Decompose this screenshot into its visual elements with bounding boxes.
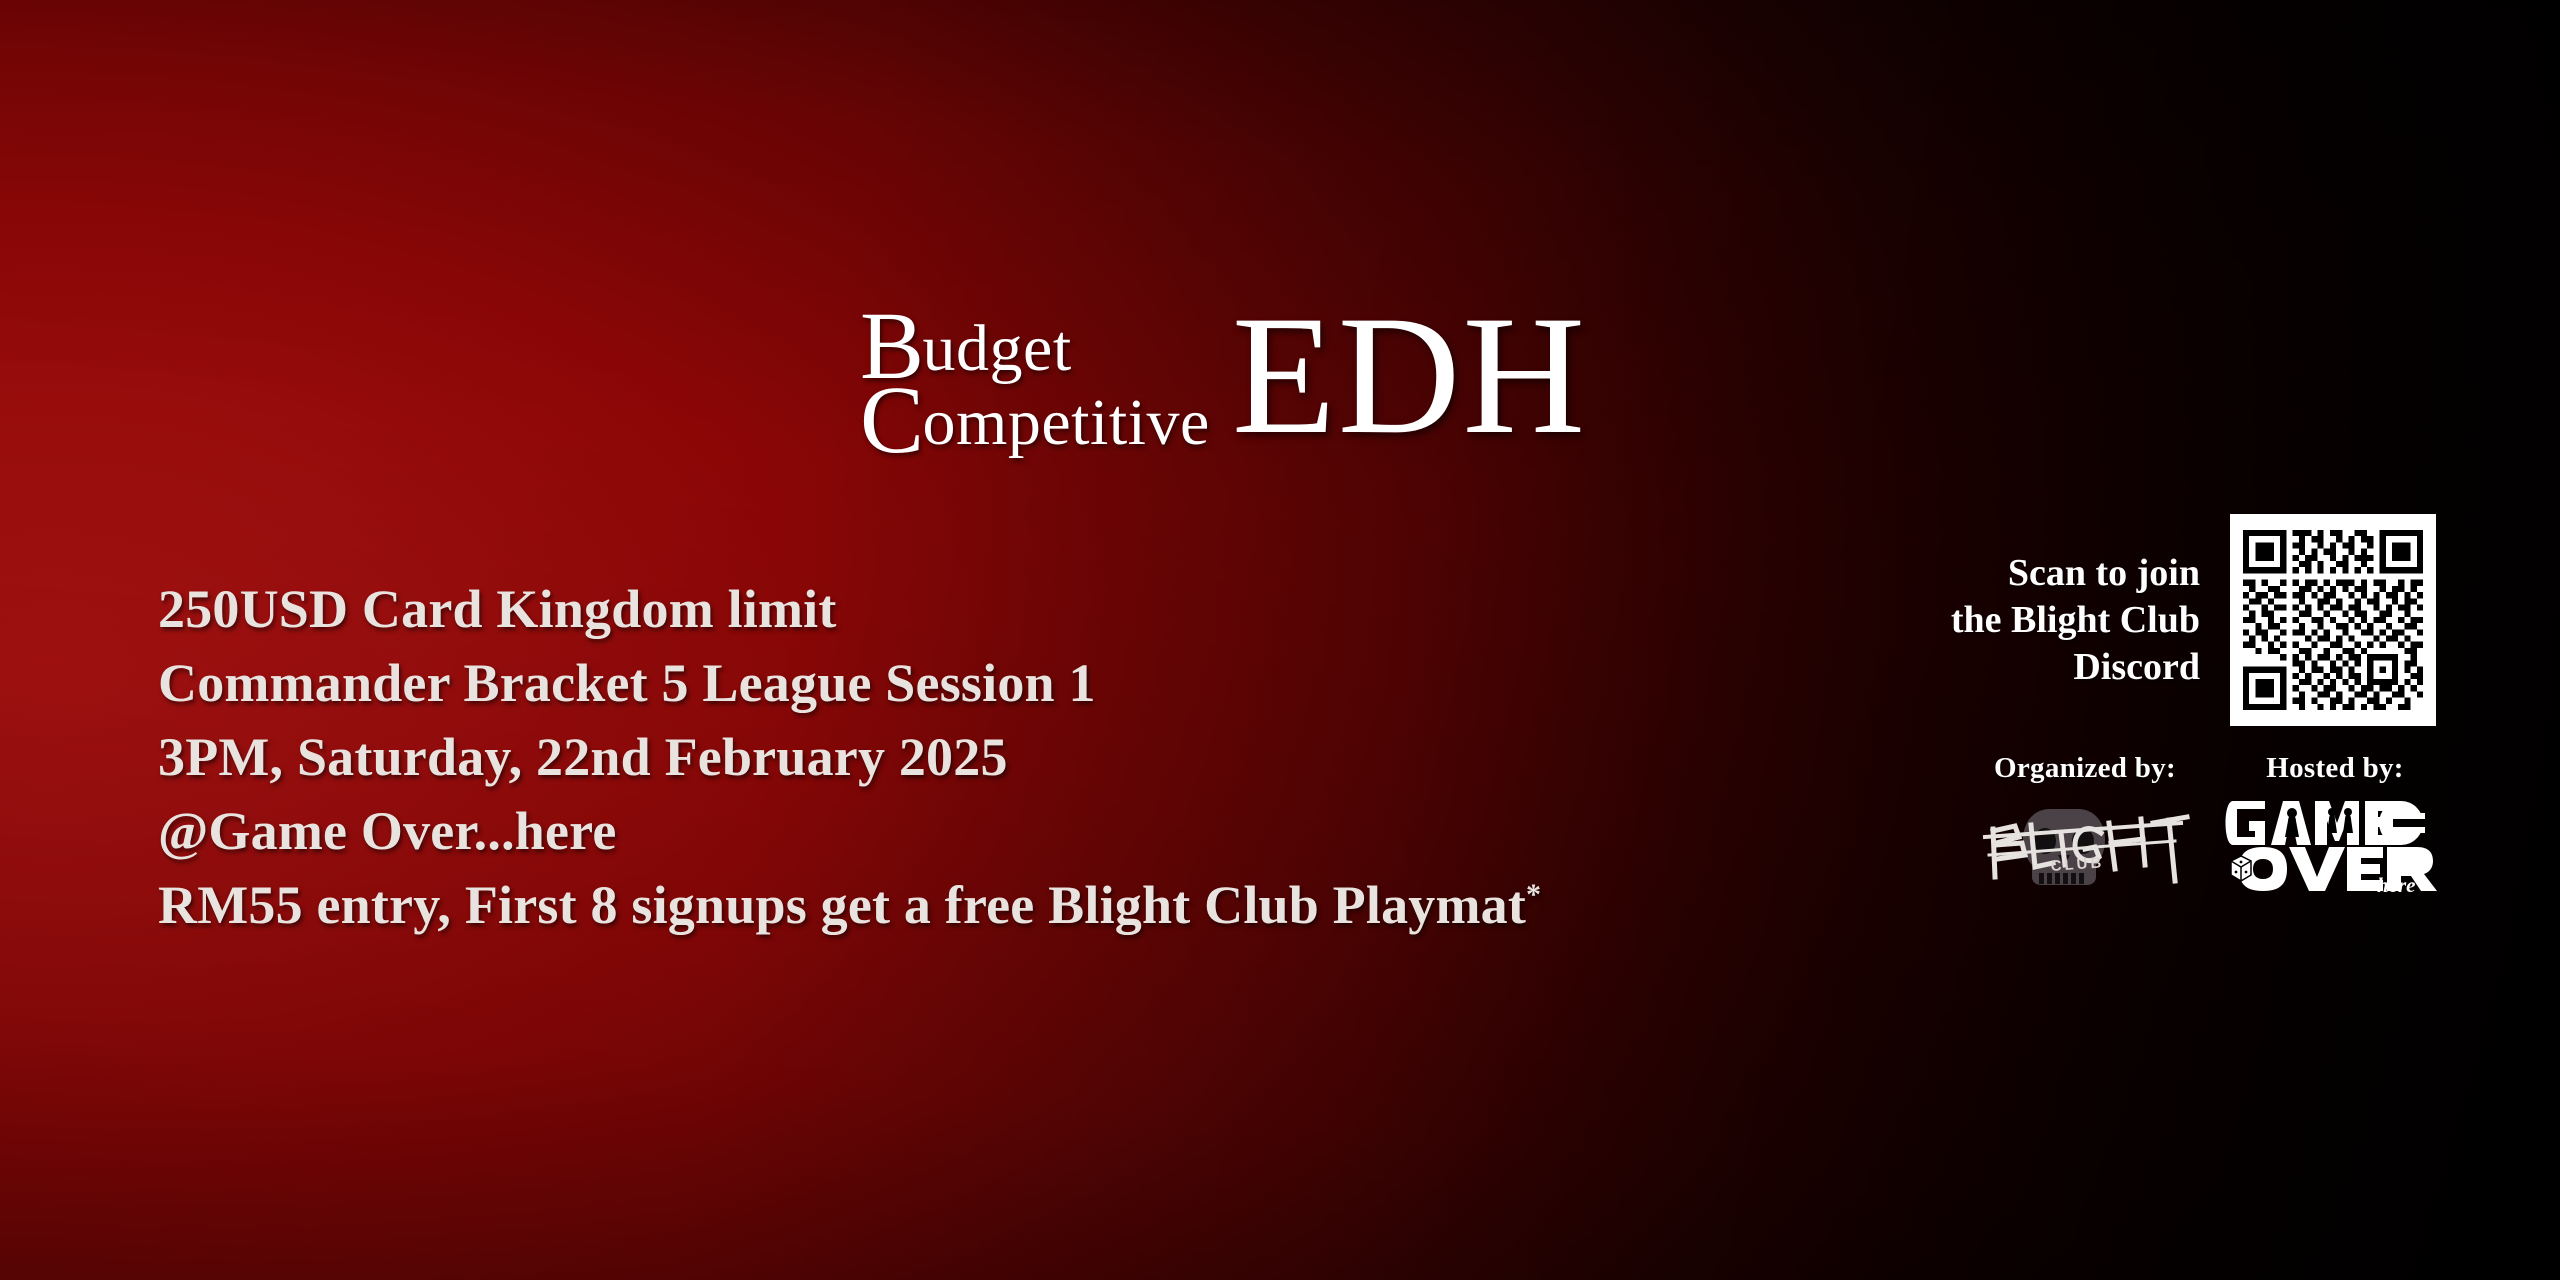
event-promo-banner: Budget Competitive EDH 250USD Card Kingd… [0,0,2560,1280]
title-line-competitive: Competitive [860,386,1210,460]
title-word-stack: Budget Competitive [860,300,1210,460]
club-subtext: CLUB [2050,854,2105,875]
partners-row: Organized by: [1960,752,2480,893]
discord-scan-block: Scan to join the Blight Club Discord [1880,512,2436,728]
title-lockup: Budget Competitive EDH [860,300,1587,460]
hosted-by-label: Hosted by: [2266,752,2404,785]
event-details-list: 250USD Card Kingdom limit Commander Brac… [158,572,1541,942]
footnote-asterisk: * [1526,878,1541,911]
organized-by-label: Organized by: [1994,752,2176,785]
svg-text:here: here [2377,873,2416,893]
scan-line-1: Scan to join [1951,550,2200,597]
detail-line-price-limit: 250USD Card Kingdom limit [158,572,1541,646]
qr-code-svg [2243,527,2423,713]
svg-text:CLUB: CLUB [2050,854,2105,875]
blight-club-logo[interactable]: CLUB [1975,793,2195,893]
partner-host: Hosted by: [2210,752,2460,893]
detail-line-venue: @Game Over...here [158,794,1541,868]
title-dropcap-c: C [860,366,925,473]
title-budget-rest: udget [923,312,1072,385]
detail-line-format-session: Commander Bracket 5 League Session 1 [158,646,1541,720]
detail-line-datetime: 3PM, Saturday, 22nd February 2025 [158,720,1541,794]
scan-line-3: Discord [1951,644,2200,691]
detail-entry-promo-text: RM55 entry, First 8 signups get a free B… [158,875,1526,935]
game-wordmark [2226,801,2426,845]
partner-organizer: Organized by: [1960,752,2210,893]
scan-line-2: the Blight Club [1951,597,2200,644]
detail-line-entry-promo: RM55 entry, First 8 signups get a free B… [158,868,1541,942]
game-over-here-logo[interactable]: here [2225,793,2445,893]
title-competitive-rest: ompetitive [923,386,1210,459]
scan-instructions: Scan to join the Blight Club Discord [1951,550,2200,691]
title-format-edh: EDH [1232,300,1587,450]
qr-code[interactable] [2230,514,2436,726]
die-icon [2231,856,2251,881]
